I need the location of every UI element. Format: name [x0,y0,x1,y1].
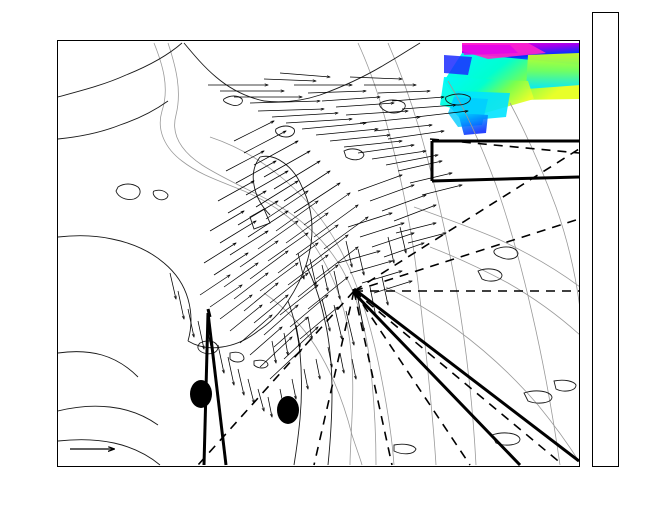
radar-beam-solid [204,141,579,465]
map-plot-area [57,40,580,467]
sst-map-figure [0,0,651,519]
sst-raster-layer [440,43,579,135]
colorbar-gradient [593,13,618,466]
temperature-colorbar [592,12,619,467]
map-canvas [58,41,579,466]
